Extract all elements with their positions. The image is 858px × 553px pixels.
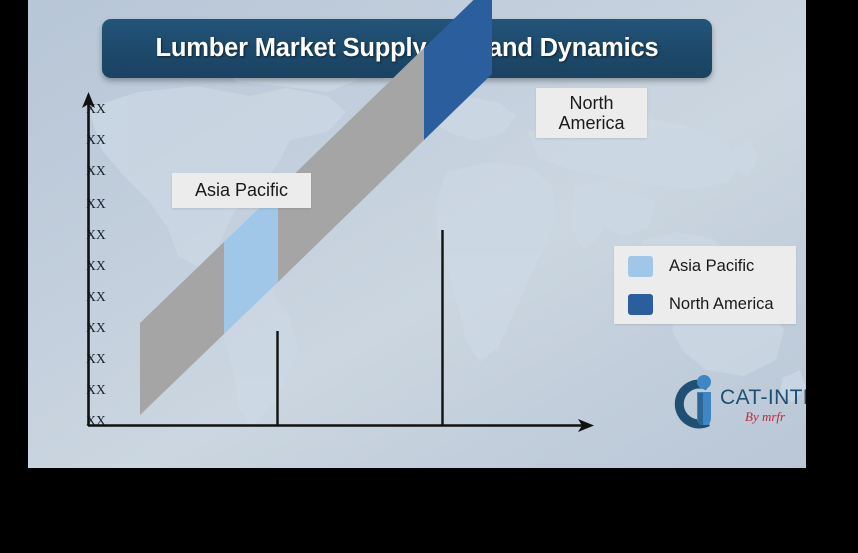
legend-label-north-america: North America (669, 295, 774, 314)
slide-canvas: Lumber Market Supply Demand Dynamics XX … (28, 0, 806, 468)
callout-north-america-label-line2: America (558, 113, 624, 133)
callout-north-america-label-line1: North (569, 93, 613, 113)
legend-swatch-north-america (628, 294, 653, 315)
legend-swatch-asia-pacific (628, 256, 653, 277)
chart-legend: Asia Pacific North America (614, 246, 796, 324)
cat-intel-logo-mark (668, 372, 724, 434)
callout-asia-pacific: Asia Pacific (172, 173, 311, 208)
cat-intel-logo: CAT-INTEL By mrfr (668, 372, 806, 434)
band-segment-other-left (140, 242, 224, 415)
cat-intel-tagline: By mrfr (745, 409, 785, 425)
legend-item-north-america[interactable]: North America (628, 294, 774, 315)
cat-intel-wordmark: CAT-INTEL (720, 386, 806, 410)
legend-label-asia-pacific: Asia Pacific (669, 257, 754, 276)
legend-item-asia-pacific[interactable]: Asia Pacific (628, 256, 754, 277)
band-segment-asia-pacific (224, 190, 278, 334)
callout-asia-pacific-label: Asia Pacific (195, 180, 288, 200)
band-segment-other-right (278, 48, 424, 282)
band-segment-north-america (424, 0, 492, 140)
callout-north-america: North America (536, 88, 647, 138)
